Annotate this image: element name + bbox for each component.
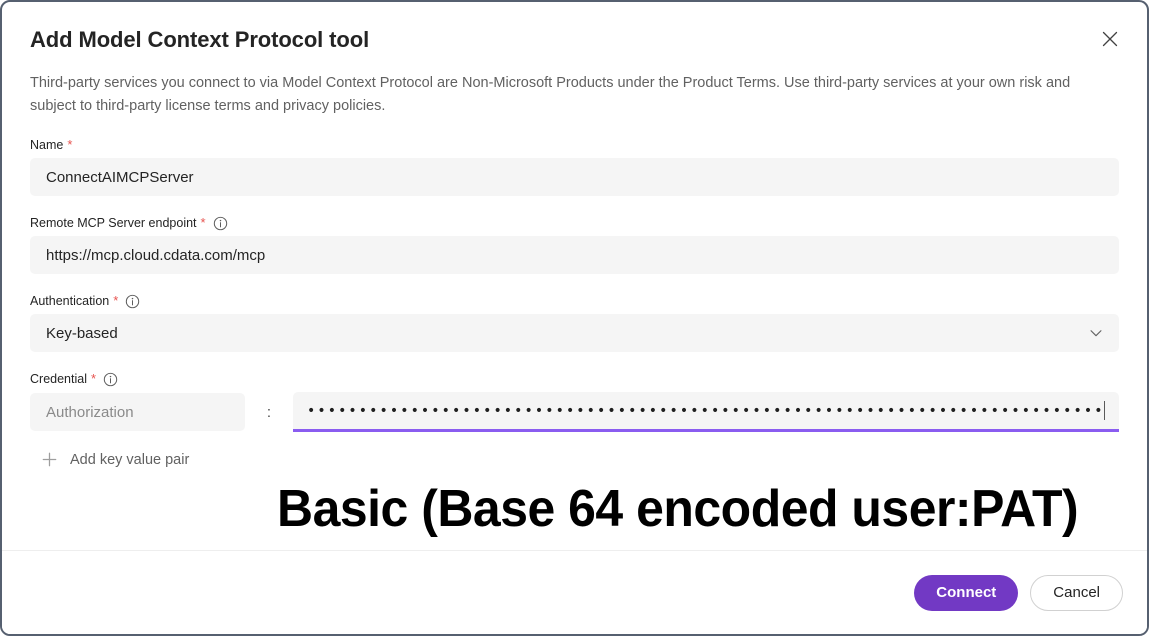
close-icon <box>1101 30 1119 48</box>
add-key-value-pair-label: Add key value pair <box>70 452 189 468</box>
authentication-select[interactable]: Key-based <box>30 314 1119 352</box>
annotation-overlay: Basic (Base 64 encoded user:PAT) <box>277 479 1078 539</box>
required-marker: * <box>91 373 96 385</box>
info-icon[interactable] <box>103 372 118 387</box>
credential-row: Authorization : ••••••••••••••••••••••••… <box>30 392 1119 432</box>
dialog-header: Add Model Context Protocol tool <box>2 2 1147 54</box>
required-marker: * <box>113 295 118 307</box>
field-authentication-label: Authentication * <box>30 293 1119 309</box>
field-endpoint: Remote MCP Server endpoint * https://mcp… <box>30 215 1119 274</box>
dialog-body: Third-party services you connect to via … <box>2 72 1147 479</box>
credential-separator: : <box>245 404 293 421</box>
field-endpoint-label: Remote MCP Server endpoint * <box>30 215 1119 231</box>
add-mcp-tool-dialog: Add Model Context Protocol tool Third-pa… <box>0 0 1149 636</box>
required-marker: * <box>67 139 72 151</box>
text-caret <box>1104 401 1106 420</box>
required-marker: * <box>201 217 206 229</box>
dialog-title: Add Model Context Protocol tool <box>30 26 1119 54</box>
authentication-selected-value: Key-based <box>46 325 118 342</box>
cancel-button[interactable]: Cancel <box>1030 575 1123 611</box>
close-button[interactable] <box>1093 22 1127 56</box>
dialog-description: Third-party services you connect to via … <box>30 72 1115 118</box>
field-credential-label: Credential * <box>30 371 1119 387</box>
credential-secret-input[interactable]: ••••••••••••••••••••••••••••••••••••••••… <box>293 392 1119 432</box>
field-name: Name * ConnectAIMCPServer <box>30 137 1119 196</box>
field-authentication: Authentication * Key-based <box>30 293 1119 352</box>
connect-button[interactable]: Connect <box>914 575 1018 611</box>
field-authentication-label-text: Authentication <box>30 293 109 309</box>
field-credential: Credential * Authorization : •••••••••••… <box>30 371 1119 479</box>
credential-key-input[interactable]: Authorization <box>30 393 245 431</box>
plus-icon <box>40 450 59 469</box>
field-name-label: Name * <box>30 137 1119 153</box>
endpoint-input[interactable]: https://mcp.cloud.cdata.com/mcp <box>30 236 1119 274</box>
name-input[interactable]: ConnectAIMCPServer <box>30 158 1119 196</box>
dialog-footer: Connect Cancel <box>2 550 1147 634</box>
field-name-label-text: Name <box>30 137 63 153</box>
info-icon[interactable] <box>125 294 140 309</box>
credential-secret-mask: ••••••••••••••••••••••••••••••••••••••••… <box>307 404 1103 418</box>
add-key-value-pair-button[interactable]: Add key value pair <box>30 440 203 479</box>
field-credential-label-text: Credential <box>30 371 87 387</box>
info-icon[interactable] <box>213 216 228 231</box>
field-endpoint-label-text: Remote MCP Server endpoint <box>30 215 197 231</box>
chevron-down-icon <box>1087 324 1105 342</box>
